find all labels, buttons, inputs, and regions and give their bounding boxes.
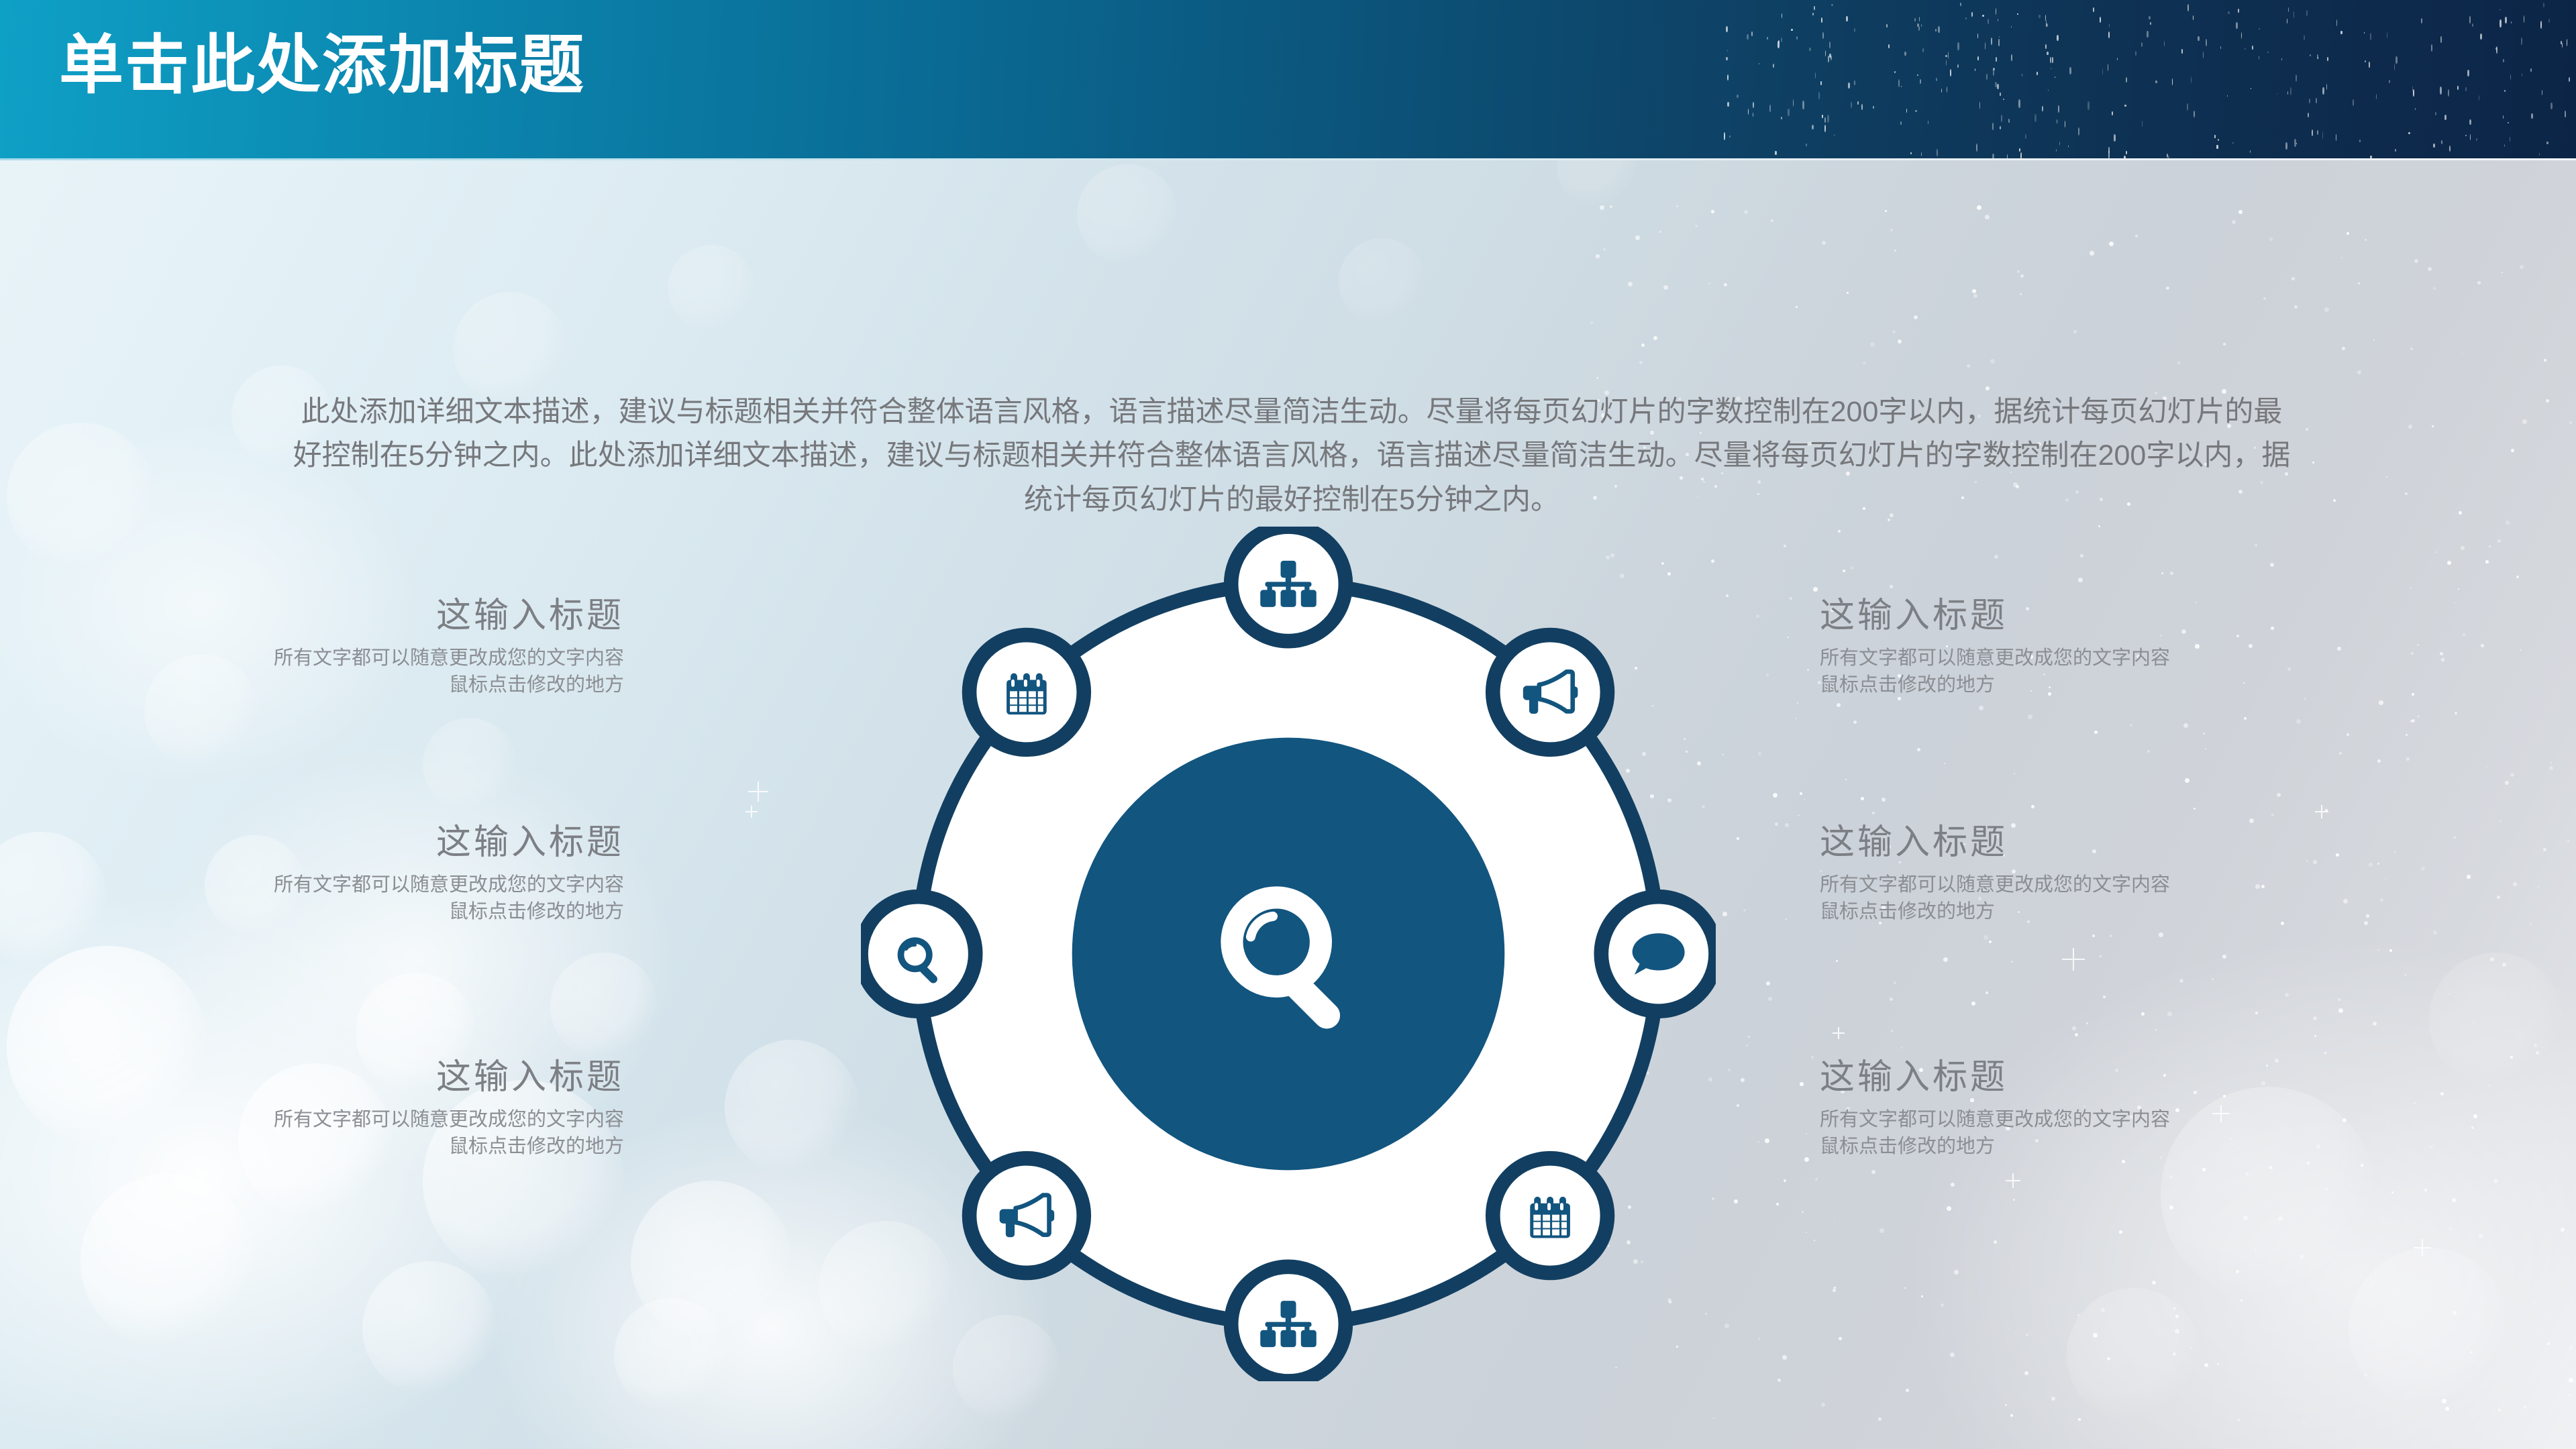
sparkle-dot — [2502, 963, 2506, 967]
sparkle-dot — [1943, 957, 1948, 962]
sparkle-dot — [2561, 1228, 2565, 1232]
sparkle-dot — [1821, 1403, 1825, 1407]
sparkle-dot — [1785, 823, 1789, 827]
sparkle-dot — [2455, 602, 2456, 604]
sparkle-dot — [1768, 997, 1772, 1001]
sparkle-dot — [1850, 566, 1853, 570]
sparkle-dot — [2551, 762, 2552, 763]
sparkle-dot — [2417, 644, 2419, 646]
sparkle-dot — [1806, 1133, 1807, 1134]
sparkle-dot — [2246, 1173, 2249, 1175]
banner-sparkle-dot — [1991, 38, 1992, 45]
sparkle-dot — [1815, 1178, 1818, 1181]
banner-sparkle-dot — [2251, 88, 2251, 89]
banner-sparkle-dot — [2322, 87, 2324, 95]
sparkle-dot — [2269, 237, 2273, 241]
sparkle-dot — [2366, 914, 2369, 918]
banner-sparkle-dot — [1806, 144, 1807, 146]
banner-sparkle-dot — [1999, 36, 2000, 38]
label-right-2[interactable]: 这输入标题 所有文字都可以随意更改成您的文字内容 鼠标点击修改的地方 — [1820, 824, 2283, 925]
sparkle-dot — [2122, 1160, 2125, 1163]
banner-sparkle-dot — [2034, 114, 2037, 122]
banner-sparkle-dot — [2181, 49, 2183, 54]
banner-sparkle-dot — [1920, 79, 1921, 84]
sparkle-dot — [2202, 1168, 2206, 1171]
sparkle-dot — [1990, 359, 1995, 364]
banner-sparkle-dot — [1957, 64, 1959, 68]
badge-top-right-megaphone[interactable] — [1493, 635, 1608, 750]
banner-sparkle-dot — [1995, 82, 1997, 87]
sparkle-star — [2006, 1173, 2020, 1188]
banner-sparkle-dot — [2088, 101, 2090, 110]
sparkle-dot — [2161, 572, 2163, 574]
label-left-1[interactable]: 这输入标题 所有文字都可以随意更改成您的文字内容 鼠标点击修改的地方 — [161, 597, 624, 698]
banner-sparkle-dot — [2287, 19, 2287, 23]
sparkle-dot — [1743, 909, 1746, 912]
banner-sparkle-dot — [2565, 111, 2566, 117]
sparkle-dot — [2155, 1029, 2157, 1031]
banner-sparkle-dot — [1831, 56, 1832, 60]
banner-sparkle-dot — [2236, 22, 2238, 29]
sparkle-dot — [2098, 525, 2100, 527]
sparkle-dot — [1695, 225, 1698, 227]
sparkle-dot — [1837, 703, 1841, 707]
sparkle-dot — [2569, 1378, 2573, 1383]
sparkle-dot — [1757, 1141, 1759, 1143]
sparkle-dot — [2306, 860, 2308, 862]
banner-sparkle-dot — [2336, 19, 2337, 26]
sparkle-dot — [2477, 281, 2481, 284]
sparkle-dot — [1590, 321, 1593, 324]
sparkle-dot — [2005, 1404, 2007, 1406]
sparkle-dot — [1775, 822, 1778, 826]
banner-sparkle-dot — [1796, 36, 1798, 40]
banner-sparkle-dot — [1812, 13, 1814, 15]
sparkle-dot — [1726, 594, 1729, 597]
banner-sparkle-dot — [1977, 34, 1978, 38]
banner-sparkle-dot — [1767, 37, 1768, 40]
banner-sparkle-dot — [1894, 71, 1896, 73]
sparkle-dot — [1713, 1417, 1714, 1419]
banner-sparkle-dot — [1904, 52, 1906, 56]
sparkle-dot — [1822, 241, 1826, 245]
banner-sparkle-dot — [1992, 154, 1994, 158]
sparkle-dot — [1596, 377, 1598, 379]
banner-sparkle-dot — [2304, 35, 2305, 40]
banner-sparkle-dot — [2508, 122, 2509, 123]
sparkle-dot — [2203, 733, 2205, 735]
banner-sparkle-dot — [2457, 86, 2459, 90]
sparkle-dot — [2380, 898, 2383, 902]
sparkle-dot — [2534, 1044, 2537, 1047]
banner-sparkle-dot — [2252, 46, 2253, 50]
sparkle-dot — [1972, 289, 1976, 293]
sparkle-dot — [2414, 259, 2418, 263]
banner-sparkle-dot — [1948, 52, 1949, 59]
banner-sparkle-dot — [2142, 121, 2143, 127]
badge-bottom-right-calendar[interactable] — [1493, 1159, 1608, 1273]
sparkle-dot — [1845, 779, 1847, 780]
sparkle-dot — [2100, 955, 2102, 957]
sparkle-dot — [2486, 767, 2487, 768]
banner-sparkle-dot — [1854, 28, 1855, 32]
sparkle-dot — [2536, 1051, 2539, 1055]
banner-sparkle-dot — [1996, 57, 1997, 62]
banner-sparkle-dot — [2567, 39, 2567, 46]
sparkle-dot — [1901, 1047, 1902, 1049]
sparkle-dot — [1811, 1056, 1814, 1059]
sparkle-dot — [2223, 343, 2226, 345]
banner-sparkle-dot — [1861, 104, 1863, 110]
banner-sparkle-dot — [1976, 144, 1977, 152]
banner-sparkle-dot — [2277, 93, 2277, 95]
sparkle-dot — [2479, 1234, 2483, 1238]
sparkle-dot — [2026, 1334, 2028, 1336]
banner-sparkle-dot — [2539, 153, 2540, 156]
label-left-3[interactable]: 这输入标题 所有文字都可以随意更改成您的文字内容 鼠标点击修改的地方 — [161, 1059, 624, 1160]
banner-sparkle-dot — [2288, 7, 2289, 12]
sparkle-dot — [2185, 778, 2189, 783]
banner-sparkle-dot — [1998, 19, 1998, 21]
banner-sparkle-dot — [2022, 74, 2022, 76]
banner-sparkle-dot — [2046, 23, 2048, 27]
banner-sparkle-dot — [2147, 31, 2149, 38]
banner-sparkle-dot — [2316, 98, 2317, 103]
sparkle-dot — [2365, 239, 2367, 241]
label-left-2-desc: 所有文字都可以随意更改成您的文字内容 鼠标点击修改的地方 — [161, 871, 624, 925]
banner-sparkle-dot — [1935, 29, 1937, 32]
sparkle-dot — [1804, 1157, 1809, 1162]
sparkle-dot — [2183, 723, 2188, 728]
sparkle-dot — [2411, 652, 2414, 655]
sparkle-dot — [2008, 1328, 2010, 1329]
sparkle-dot — [2135, 235, 2138, 237]
banner-sparkle-dot — [2093, 7, 2094, 12]
sparkle-dot — [2471, 1126, 2474, 1129]
banner-sparkle-dot — [1781, 117, 1782, 119]
banner-sparkle-dot — [2238, 9, 2239, 13]
banner-sparkle-dot — [2167, 154, 2168, 158]
sparkle-dot — [2454, 837, 2456, 839]
banner-sparkle-dot — [1917, 74, 1918, 76]
banner-sparkle-dot — [2500, 9, 2500, 10]
banner-sparkle-dot — [1727, 50, 1728, 52]
banner-sparkle-dot — [1851, 102, 1852, 108]
banner-sparkle-dot — [2108, 64, 2108, 71]
sparkle-dot — [2406, 757, 2410, 761]
banner-sparkle-dot — [1988, 19, 1989, 24]
label-right-3-desc-line2: 鼠标点击修改的地方 — [1820, 1133, 2283, 1160]
banner-sparkle-dot — [2522, 73, 2522, 76]
banner-sparkle-dot — [2042, 106, 2043, 111]
sparkle-dot — [1806, 1232, 1807, 1233]
banner-sparkle-dot — [2540, 21, 2542, 29]
sparkle-dot — [2377, 759, 2381, 763]
sparkle-dot — [2166, 286, 2169, 290]
banner-sparkle-dot — [1941, 89, 1942, 93]
banner-sparkle-dot — [1824, 125, 1826, 132]
sparkle-dot — [1950, 1352, 1955, 1357]
sparkle-dot — [2307, 1162, 2310, 1165]
sparkle-dot — [2522, 419, 2527, 424]
sparkle-dot — [2347, 232, 2349, 235]
banner-sparkle-dot — [2117, 58, 2118, 60]
banner-sparkle-dot — [1781, 38, 1782, 42]
sparkle-dot — [2510, 1056, 2513, 1059]
sparkle-dot — [2240, 1299, 2243, 1301]
banner-sparkle-dot — [1982, 15, 1984, 17]
sparkle-dot — [1635, 235, 1640, 240]
banner-sparkle-dot — [2045, 44, 2047, 49]
sparkle-dot — [2455, 712, 2457, 714]
banner-sparkle-dot — [1971, 12, 1973, 17]
sparkle-dot — [2277, 793, 2281, 797]
sparkle-dot — [2325, 809, 2328, 812]
banner-sparkle-dot — [2285, 142, 2287, 150]
banner-sparkle-dot — [2203, 52, 2204, 58]
sparkle-dot — [2289, 1093, 2290, 1095]
sparkle-dot — [1766, 674, 1769, 676]
badge-top-hierarchy[interactable] — [1231, 527, 1346, 641]
sparkle-dot — [2147, 750, 2150, 753]
sparkle-dot — [1878, 1417, 1882, 1421]
sparkle-dot — [1951, 1183, 1955, 1187]
banner-sparkle-dot — [2149, 16, 2151, 19]
banner-sparkle-dot — [1812, 125, 1814, 129]
sparkle-dot — [2389, 949, 2392, 952]
banner-sparkle-dot — [2504, 90, 2506, 92]
banner-sparkle-dot — [1726, 26, 1728, 32]
banner-sparkle-dot — [1828, 56, 1829, 62]
sparkle-dot — [2313, 860, 2317, 864]
banner-sparkle-dot — [2037, 72, 2038, 75]
banner-sparkle-dot — [2504, 144, 2505, 147]
sparkle-dot — [2410, 720, 2413, 722]
sparkle-dot — [2086, 1022, 2088, 1024]
sparkle-dot — [2432, 425, 2434, 427]
sparkle-dot — [2296, 719, 2301, 724]
banner-sparkle-dot — [1825, 50, 1826, 56]
title-banner: 单击此处添加标题 — [0, 0, 2576, 158]
sparkle-dot — [2436, 551, 2437, 553]
sparkle-dot — [2381, 1327, 2383, 1328]
banner-sparkle-dot — [2569, 77, 2570, 82]
sparkle-dot — [2489, 1085, 2490, 1086]
sparkle-dot — [2543, 848, 2546, 851]
banner-sparkle-dot — [2548, 19, 2550, 23]
banner-sparkle-dot — [1922, 48, 1924, 52]
sparkle-dot — [2440, 1092, 2444, 1095]
sparkle-dot — [1941, 1303, 1944, 1307]
sparkle-dot — [2324, 307, 2329, 312]
sparkle-dot — [2212, 978, 2214, 980]
sparkle-star — [1833, 1027, 1845, 1039]
sparkle-dot — [2386, 476, 2387, 478]
banner-sparkle-dot — [2543, 3, 2544, 7]
sparkle-dot — [2357, 370, 2361, 374]
sparkle-dot — [2093, 1333, 2098, 1338]
banner-sparkle-dot — [2281, 58, 2282, 60]
banner-sparkle-dot — [1917, 23, 1919, 27]
banner-sparkle-dot — [1769, 105, 1771, 112]
sparkle-dot — [2544, 359, 2546, 362]
banner-sparkle-dot — [1821, 17, 1822, 23]
sparkle-dot — [2337, 647, 2341, 651]
banner-sparkle-dot — [2000, 93, 2001, 96]
sparkle-dot — [2014, 773, 2015, 774]
banner-sparkle-dot — [2327, 57, 2328, 61]
sparkle-dot — [2424, 1189, 2427, 1191]
page-title: 单击此处添加标题 — [59, 34, 585, 98]
sparkle-dot — [1724, 1324, 1729, 1328]
sparkle-dot — [1724, 283, 1727, 286]
sparkle-dot — [2013, 1199, 2015, 1201]
sparkle-dot — [2130, 724, 2132, 727]
sparkle-dot — [2341, 257, 2342, 258]
sparkle-dot — [2481, 644, 2484, 647]
sparkle-dot — [2569, 1394, 2571, 1396]
label-left-2-desc-line2: 鼠标点击修改的地方 — [161, 898, 624, 925]
sparkle-dot — [2520, 649, 2522, 651]
banner-sparkle-dot — [1975, 68, 1975, 71]
banner-sparkle-dot — [2228, 11, 2230, 14]
sparkle-dot — [2204, 1363, 2208, 1367]
banner-sparkle-dot — [2394, 64, 2395, 70]
banner-sparkle-dot — [2365, 60, 2366, 62]
sparkle-dot — [2497, 539, 2501, 543]
banner-sparkle-dot — [2001, 115, 2002, 122]
sparkle-dot — [2325, 1187, 2328, 1191]
sparkle-dot — [2075, 1033, 2078, 1036]
banner-sparkle-dot — [1906, 109, 1907, 113]
banner-sparkle-dot — [2078, 127, 2079, 136]
sparkle-dot — [1921, 1295, 1923, 1297]
banner-sparkle-dot — [1936, 78, 1937, 81]
sparkle-dot — [1748, 1036, 1750, 1038]
sparkle-dot — [2336, 853, 2339, 857]
sparkle-dot — [1894, 981, 1896, 984]
banner-sparkle-dot — [2465, 87, 2467, 91]
label-right-3[interactable]: 这输入标题 所有文字都可以随意更改成您的文字内容 鼠标点击修改的地方 — [1820, 1059, 2283, 1160]
sparkle-dot — [2238, 210, 2243, 214]
sparkle-dot — [2520, 265, 2524, 269]
sparkle-dot — [1944, 763, 1945, 764]
sparkle-dot — [1898, 339, 1902, 343]
banner-sparkle-dot — [2467, 70, 2469, 76]
banner-sparkle-dot — [2470, 134, 2471, 140]
sparkle-dot — [1804, 799, 1805, 800]
sparkle-dot — [2547, 1342, 2550, 1345]
banner-sparkle-dot — [1946, 60, 1947, 66]
banner-sparkle-dot — [1727, 74, 1729, 80]
sparkle-dot — [2385, 878, 2386, 879]
badge-bottom-left-megaphone[interactable] — [970, 1159, 1084, 1273]
banner-sparkle-dot — [2521, 38, 2522, 45]
sparkle-dot — [2364, 1373, 2367, 1377]
sparkle-dot — [2414, 1102, 2416, 1104]
banner-sparkle-dot — [2441, 140, 2442, 144]
bokeh-circle — [453, 292, 567, 406]
banner-sparkle-dot — [1748, 109, 1749, 115]
sparkle-dot — [2011, 961, 2013, 963]
sparkle-dot — [2511, 449, 2514, 452]
badge-top-left-calendar[interactable] — [970, 635, 1084, 750]
sparkle-dot — [2020, 274, 2024, 278]
sparkle-dot — [1603, 248, 1606, 251]
badge-right-speech-bubble[interactable] — [1601, 897, 1716, 1012]
banner-sparkle-dot — [2050, 57, 2051, 63]
sparkle-dot — [1600, 205, 1604, 210]
badge-bottom-hierarchy[interactable] — [1231, 1267, 1346, 1381]
badge-left-search[interactable] — [861, 897, 976, 1012]
sparkle-dot — [2338, 998, 2340, 1001]
sparkle-dot — [2412, 719, 2415, 722]
sparkle-dot — [2243, 1216, 2248, 1220]
sparkle-dot — [1814, 1240, 1815, 1241]
sparkle-dot — [2191, 1347, 2192, 1348]
banner-sparkle-dot — [2187, 4, 2189, 11]
banner-sparkle-dot — [1815, 72, 1816, 78]
sparkle-dot — [2119, 1230, 2122, 1234]
banner-sparkle-dot — [1753, 113, 1753, 117]
banner-sparkle-dot — [1873, 106, 1874, 109]
sparkle-dot — [2498, 1409, 2501, 1411]
label-left-1-desc-line1: 所有文字都可以随意更改成您的文字内容 — [161, 645, 624, 672]
banner-sparkle-dot — [2476, 138, 2477, 141]
sparkle-dot — [2159, 932, 2163, 937]
circular-diagram — [861, 527, 1716, 1381]
sparkle-dot — [1906, 1389, 1909, 1392]
banner-sparkle-dot — [2318, 57, 2318, 59]
sparkle-dot — [2291, 277, 2295, 280]
label-right-1[interactable]: 这输入标题 所有文字都可以随意更改成您的文字内容 鼠标点击修改的地方 — [1820, 597, 2283, 698]
sparkle-dot — [2313, 1016, 2317, 1020]
banner-sparkle-dot — [2051, 68, 2051, 69]
label-right-3-title: 这输入标题 — [1820, 1059, 2283, 1097]
label-left-3-desc-line1: 所有文字都可以随意更改成您的文字内容 — [161, 1106, 624, 1133]
banner-sparkle-dot — [1829, 42, 1831, 48]
banner-sparkle-dot — [2068, 146, 2069, 147]
banner-sparkle-dot — [2259, 28, 2260, 30]
sparkle-dot — [1663, 285, 1668, 290]
sparkle-dot — [1788, 637, 1789, 638]
bokeh-circle — [631, 1181, 792, 1342]
banner-sparkle-dot — [1820, 81, 1822, 85]
label-left-2[interactable]: 这输入标题 所有文字都可以随意更改成您的文字内容 鼠标点击修改的地方 — [161, 824, 624, 925]
banner-sparkle-dot — [1759, 63, 1759, 64]
sparkle-dot — [2569, 421, 2572, 424]
sparkle-dot — [2324, 1052, 2326, 1054]
banner-sparkle-dot — [2546, 142, 2548, 144]
banner-sparkle-dot — [1834, 134, 1835, 136]
banner-sparkle-dot — [2011, 26, 2012, 28]
sparkle-dot — [2300, 1254, 2304, 1258]
banner-sparkle-dot — [2232, 142, 2234, 144]
banner-sparkle-dot — [2480, 34, 2482, 40]
sparkle-dot — [2179, 979, 2183, 983]
sparkle-dot — [1800, 792, 1802, 795]
sparkle-dot — [2442, 1399, 2446, 1403]
banner-sparkle-dot — [1727, 102, 1729, 107]
sparkle-dot — [2238, 1419, 2240, 1421]
label-left-1-desc-line2: 鼠标点击修改的地方 — [161, 672, 624, 698]
sparkle-dot — [2078, 578, 2083, 582]
banner-sparkle-dot — [2369, 62, 2370, 68]
sparkle-dot — [2287, 667, 2291, 671]
banner-sparkle-dot — [2503, 59, 2504, 62]
banner-sparkle-dot — [1788, 109, 1790, 116]
banner-sparkle-dot — [2057, 35, 2059, 41]
